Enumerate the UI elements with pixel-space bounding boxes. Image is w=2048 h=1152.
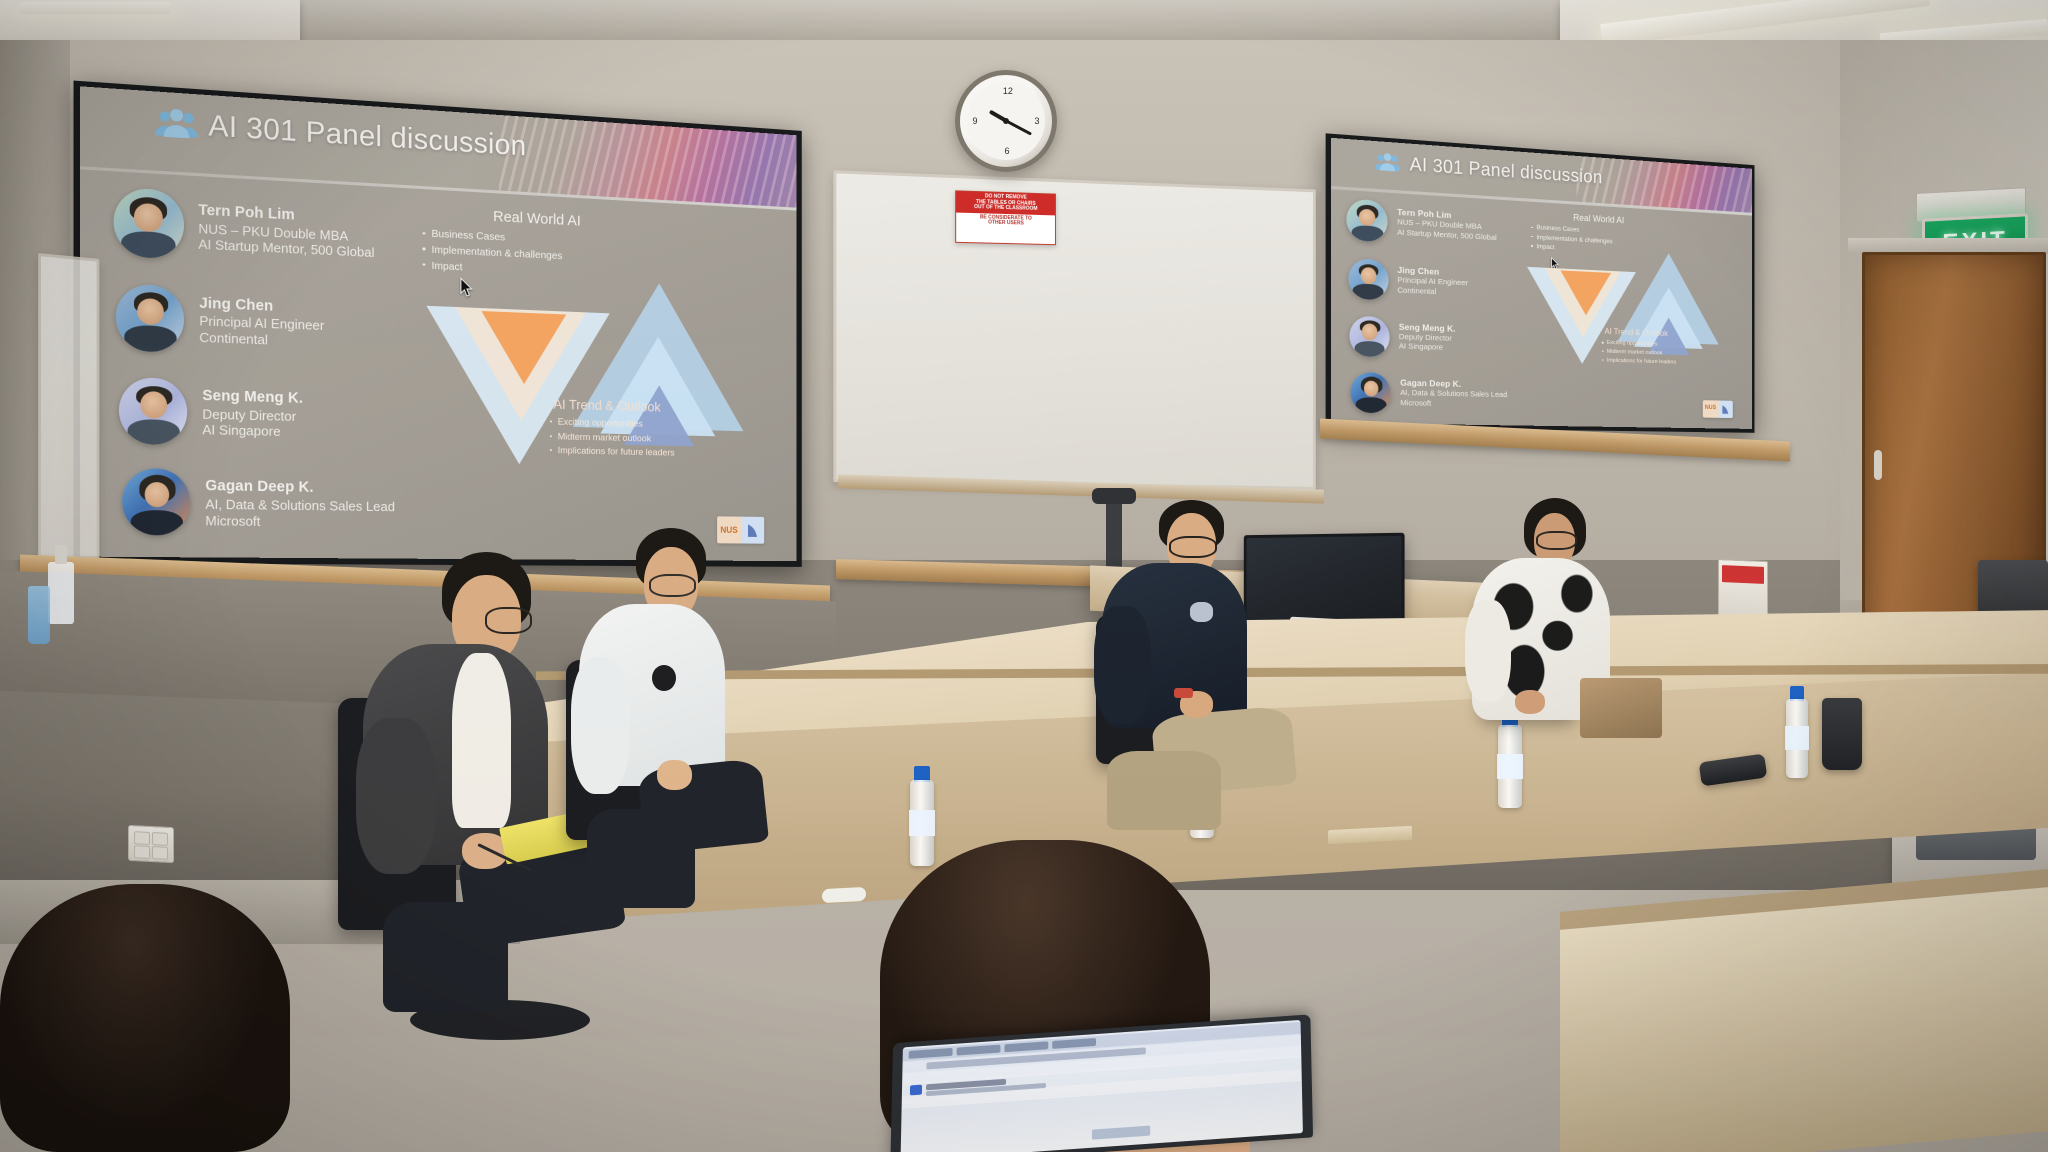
glasses [649,574,696,597]
light-switch-plate [128,825,174,863]
wall-clock: 12 3 6 9 [955,70,1057,172]
handbag [1580,678,1663,738]
docs-app-icon[interactable] [910,1085,922,1096]
ceiling-light-left [20,2,170,14]
hand-sanitizer-bottle [48,562,74,624]
slide-topic-ai-trend-outlook: AI Trend & Outlook Exciting opportunitie… [548,396,790,463]
slide-panelist-2: Seng Meng K. Deputy Director AI Singapor… [119,377,303,448]
clock-minute-hand [1005,120,1031,136]
nus-logo-text: NUS [1705,406,1716,412]
projection-screen-left: AI 301 Panel discussion Tern Poh Lim NUS… [80,86,796,561]
panelist-org: AI Singapore [1399,341,1456,352]
panelist-info: Seng Meng K. Deputy Director AI Singapor… [1399,317,1456,353]
triangle-down-inner [482,311,567,385]
sanitizer-body [48,562,74,624]
leg [383,902,508,1012]
switch-key [134,845,150,859]
avatar [1351,372,1391,413]
avatar [1348,258,1388,300]
notice-sign-bottom: BE CONSIDERATE TO OTHER USERS [956,212,1055,230]
clock-numeral: 3 [1035,117,1040,126]
panelist-info: Gagan Deep K. AI, Data & Solutions Sales… [205,470,395,531]
slide-panelist-3: Gagan Deep K. AI, Data & Solutions Sales… [123,468,395,537]
glasses [1169,536,1217,558]
leg [587,809,695,908]
notice-sign-top: DO NOT REMOVE THE TABLES OR CHAIRS OUT O… [956,191,1055,215]
panelist-org: Microsoft [1400,397,1507,408]
glasses [485,607,532,634]
panelist-info: Seng Meng K. Deputy Director AI Singapor… [202,379,303,441]
slide-panelist-0: Tern Poh Lim NUS – PKU Double MBA AI Sta… [113,187,374,268]
switch-key [152,846,168,860]
slide-panelist-1: Jing Chen Principal AI Engineer Continen… [116,283,324,357]
avatar [1350,315,1390,357]
switch-key [134,831,150,845]
slide-panelist-2: Seng Meng K. Deputy Director AI Singapor… [1350,315,1456,359]
bottle-label [909,810,935,836]
arm [356,718,435,874]
panelist-3 [1460,498,1690,798]
door-handle[interactable] [1874,450,1882,480]
panelist-info: Tern Poh Lim NUS – PKU Double MBA AI Sta… [1397,202,1496,242]
panelist-info: Tern Poh Lim NUS – PKU Double MBA AI Sta… [198,192,374,262]
water-bottle [1782,686,1812,778]
whiteboard-left [38,253,99,562]
hand [657,760,692,790]
slide-left: AI 301 Panel discussion Tern Poh Lim NUS… [80,86,796,561]
slide-right: AI 301 Panel discussion Tern Poh Lim NUS… [1331,138,1752,429]
slide-panelist-3: Gagan Deep K. AI, Data & Solutions Sales… [1351,372,1507,415]
clock-face: 12 3 6 9 [967,82,1045,160]
panelist-info: Jing Chen Principal AI Engineer Continen… [199,287,324,351]
people-group-icon [1374,152,1401,174]
audience-left [0,884,290,1152]
panelist-1 [560,528,830,908]
avatar [113,187,183,259]
glasses [1536,531,1577,550]
slide-panelist-1: Jing Chen Principal AI Engineer Continen… [1348,258,1468,304]
bottle-label [1785,726,1809,750]
classroom-notice-sign: DO NOT REMOVE THE TABLES OR CHAIRS OUT O… [955,190,1056,245]
clock-numeral: 9 [972,117,977,126]
panelist-org: Microsoft [205,513,395,531]
black-tumbler [1822,698,1862,770]
avatar [123,468,191,536]
leg [1107,751,1221,830]
clock-numeral: 12 [1003,87,1013,96]
clock-center-pin [1003,118,1009,124]
sanitizer-pump [55,545,66,565]
nus-logo: NUS [1703,400,1733,418]
classroom-photo: AI 301 Panel discussion Tern Poh Lim NUS… [0,0,2048,1152]
panelist-info: Jing Chen Principal AI Engineer Continen… [1397,261,1468,298]
water-bottle-sill [28,586,50,644]
polo-logo [1190,602,1213,622]
topic-bullets: Exciting opportunities Midterm market ou… [1601,339,1748,369]
panelist-2 [1086,500,1346,830]
panelist-info: Gagan Deep K. AI, Data & Solutions Sales… [1400,373,1507,409]
panelist-org: AI Singapore [202,422,303,441]
topic-bullets: Exciting opportunities Midterm market ou… [548,416,790,463]
notice-line-5: OTHER USERS [959,220,1052,228]
fire-alarm-red-strip [1722,565,1764,584]
whiteboard-center [833,170,1316,490]
wrist-band [1174,688,1192,698]
arm [571,657,630,794]
arm [1094,606,1151,725]
arm [1465,600,1511,702]
nus-logo-wordmark: NUS [1703,400,1719,418]
sail-shape-icon [1721,404,1731,416]
slide-panelist-0: Tern Poh Lim NUS – PKU Double MBA AI Sta… [1347,199,1497,249]
panelist-org: Continental [199,330,324,351]
avatar [119,377,187,445]
avatar [116,283,184,352]
switch-key [152,832,168,846]
hand [1515,690,1545,714]
slide-topic-ai-trend-outlook: AI Trend & Outlook Exciting opportunitie… [1601,327,1748,369]
hair [0,884,290,1152]
triangle-down-inner [1560,270,1611,316]
projection-screen-right: AI 301 Panel discussion Tern Poh Lim NUS… [1331,138,1752,429]
nus-logo-sail-icon [1718,401,1732,419]
clock-numeral: 6 [1004,147,1009,156]
panelist-org: Continental [1397,285,1468,297]
people-group-icon [154,108,198,142]
inner-tshirt [452,653,511,828]
avatar [1347,199,1388,243]
